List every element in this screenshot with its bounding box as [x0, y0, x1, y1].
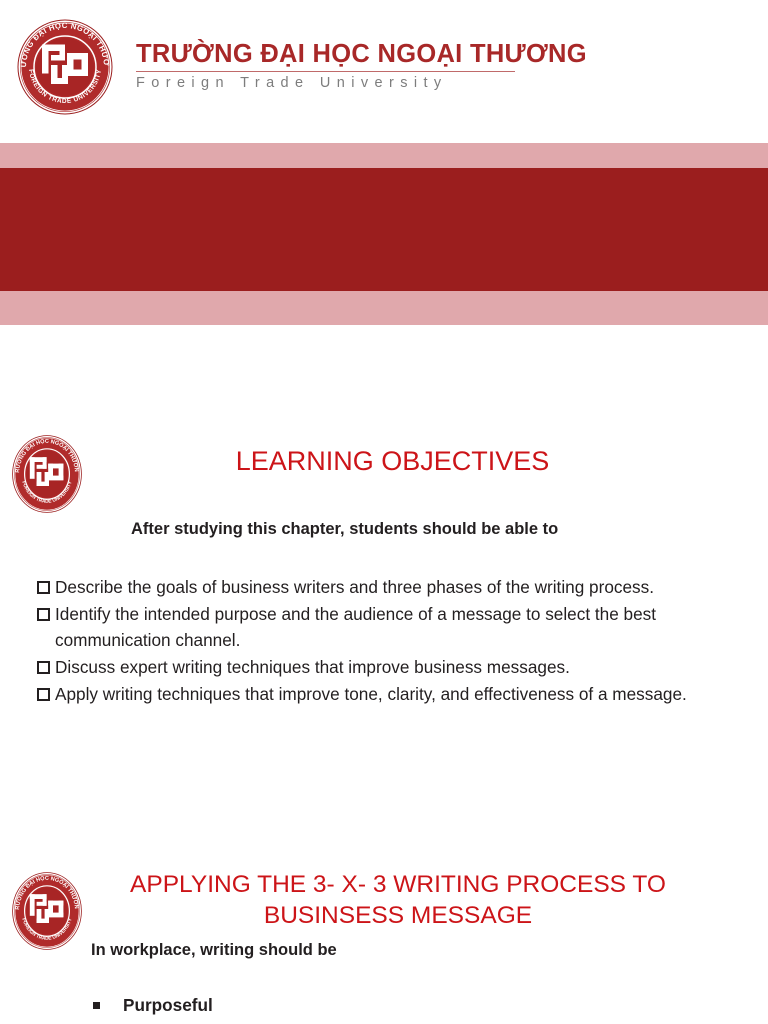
page-title: APPLYING THE 3- X- 3 WRITING PROCESS TO …	[92, 870, 704, 932]
hollow-square-bullet-icon	[37, 608, 50, 621]
list-item: Discuss expert writing techniques that i…	[36, 654, 742, 680]
list-item: Identify the intended purpose and the au…	[36, 601, 742, 654]
university-logo-icon: TRƯỜNG ĐẠI HỌC NGOẠI THƯƠNG FOREIGN TRAD…	[11, 433, 83, 515]
university-logo-icon: TRƯỜNG ĐẠI HỌC NGOẠI THƯƠNG FOREIGN TRAD…	[15, 17, 115, 117]
page-header: TRƯỜNG ĐẠI HỌC NGOẠI THƯƠNG FOREIGN TRAD…	[0, 0, 768, 130]
university-name-vi: TRƯỜNG ĐẠI HỌC NGOẠI THƯƠNG	[136, 41, 536, 68]
objectives-bullet-list: Describe the goals of business writers a…	[36, 574, 742, 708]
header-divider	[136, 71, 515, 72]
list-item: Describe the goals of business writers a…	[36, 574, 742, 600]
list-item: Apply writing techniques that improve to…	[36, 681, 742, 707]
list-item-label: Apply writing techniques that improve to…	[55, 684, 687, 704]
header-title-block: TRƯỜNG ĐẠI HỌC NGOẠI THƯƠNG Foreign Trad…	[136, 41, 536, 91]
title-banner	[0, 143, 768, 325]
banner-band-pink-top	[0, 143, 768, 168]
list-item-label: Describe the goals of business writers a…	[55, 577, 654, 597]
list-item-label: Purposeful	[123, 995, 213, 1015]
hollow-square-bullet-icon	[37, 581, 50, 594]
page-title: LEARNING OBJECTIVES	[120, 446, 665, 477]
hollow-square-bullet-icon	[37, 688, 50, 701]
filled-square-bullet-icon	[93, 1002, 100, 1009]
list-item: Purposeful	[91, 993, 691, 1019]
list-item-label: Discuss expert writing techniques that i…	[55, 657, 570, 677]
list-item-label: Identify the intended purpose and the au…	[55, 604, 656, 650]
applying-subtitle: In workplace, writing should be	[91, 941, 337, 960]
banner-band-pink-bottom	[0, 291, 768, 325]
applying-bullet-list: Purposeful	[91, 993, 691, 1019]
hollow-square-bullet-icon	[37, 661, 50, 674]
objectives-subtitle: After studying this chapter, students sh…	[131, 520, 558, 539]
university-name-en: Foreign Trade University	[136, 75, 536, 91]
banner-band-red	[0, 168, 768, 291]
university-logo-icon: TRƯỜNG ĐẠI HỌC NGOẠI THƯƠNG FOREIGN TRAD…	[11, 870, 83, 952]
